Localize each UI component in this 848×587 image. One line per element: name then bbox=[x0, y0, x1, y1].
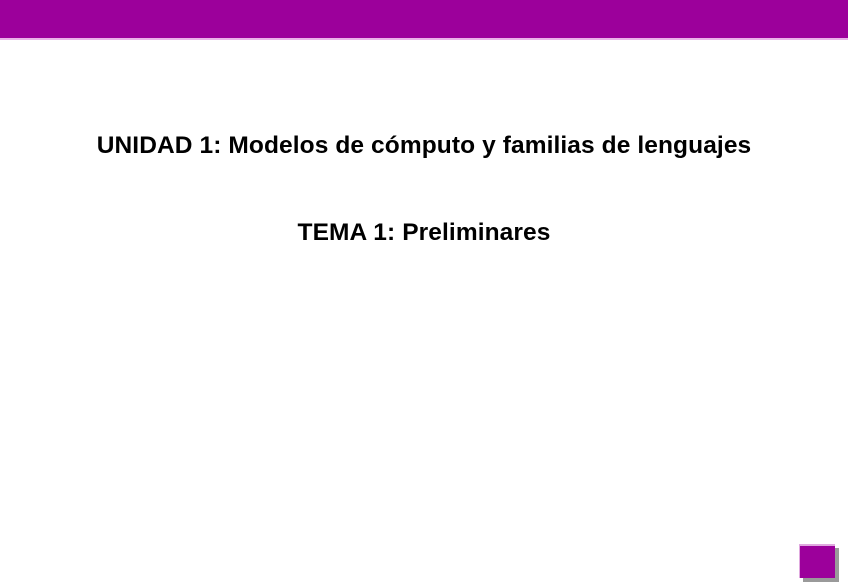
slide-subtitle-topic: TEMA 1: Preliminares bbox=[0, 219, 848, 247]
slide-content: UNIDAD 1: Modelos de cómputo y familias … bbox=[0, 0, 848, 587]
corner-decoration bbox=[799, 544, 839, 582]
corner-decoration-square bbox=[800, 546, 835, 578]
slide-title-unit: UNIDAD 1: Modelos de cómputo y familias … bbox=[0, 132, 848, 160]
presentation-slide: UNIDAD 1: Modelos de cómputo y familias … bbox=[0, 0, 848, 587]
